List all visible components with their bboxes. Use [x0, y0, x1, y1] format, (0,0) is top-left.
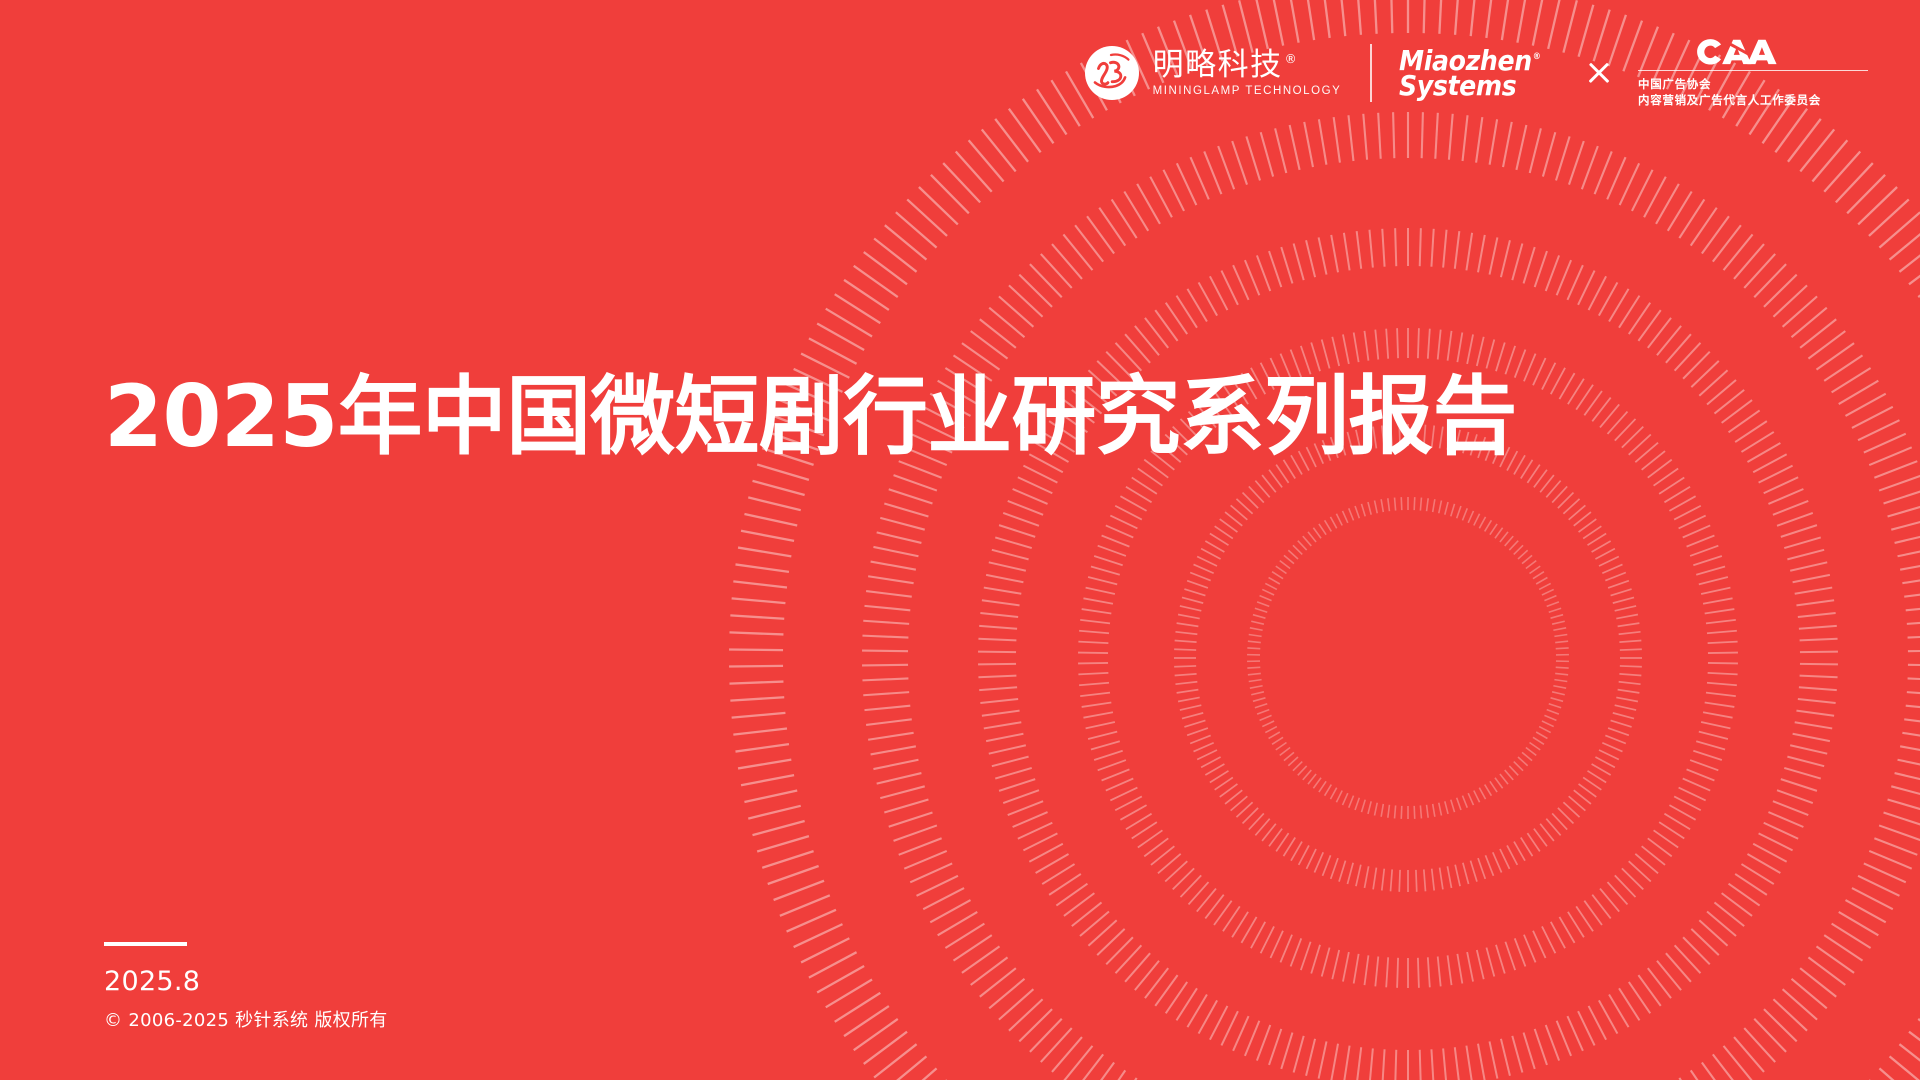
mininglamp-name-cn: 明略科技® — [1153, 50, 1342, 81]
miaozhen-logo: Miaozhen® Systems — [1399, 48, 1540, 100]
radial-tick-rings-decoration — [0, 0, 1920, 1080]
mininglamp-name-en: MININGLAMP TECHNOLOGY — [1153, 86, 1342, 98]
miaozhen-line1-text: Miaozhen — [1399, 44, 1532, 77]
tick-ring-1 — [1174, 424, 1642, 892]
logo-divider — [1370, 44, 1372, 102]
mininglamp-globe-icon — [1084, 45, 1140, 101]
caa-rule — [1638, 70, 1868, 71]
page-title: 2025年中国微短剧行业研究系列报告 — [104, 372, 1517, 462]
caa-line1: 中国广告协会 — [1638, 76, 1868, 92]
mininglamp-name-cn-text: 明略科技 — [1153, 47, 1283, 83]
mininglamp-wordmark: 明略科技® MININGLAMP TECHNOLOGY — [1153, 50, 1342, 98]
tick-ring-3 — [978, 228, 1838, 1080]
miaozhen-registered-mark: ® — [1533, 52, 1541, 62]
copyright-notice: © 2006-2025 秒针系统 版权所有 — [104, 1010, 388, 1032]
tick-ring-5 — [729, 0, 1920, 1080]
footer-block: 2025.8 © 2006-2025 秒针系统 版权所有 — [104, 942, 388, 1032]
title-block: 2025年中国微短剧行业研究系列报告 — [104, 372, 1538, 462]
miaozhen-line2: Systems — [1399, 73, 1540, 99]
publication-date: 2025.8 — [104, 967, 388, 997]
miaozhen-line1: Miaozhen® — [1399, 48, 1540, 74]
report-cover-slide: 明略科技® MININGLAMP TECHNOLOGY Miaozhen® Sy… — [0, 0, 1920, 1080]
partner-logo-bar: 明略科技® MININGLAMP TECHNOLOGY Miaozhen® Sy… — [1084, 38, 1868, 109]
mininglamp-logo: 明略科技® MININGLAMP TECHNOLOGY — [1084, 45, 1342, 101]
tick-ring-0 — [1247, 497, 1569, 819]
mininglamp-registered-mark: ® — [1285, 52, 1297, 66]
caa-logo-icon — [1638, 38, 1868, 65]
footer-rule — [104, 942, 187, 946]
caa-line2: 内容营销及广告代言人工作委员会 — [1638, 92, 1868, 108]
tick-ring-4 — [862, 112, 1920, 1080]
cross-icon — [1586, 60, 1612, 86]
caa-logo: 中国广告协会 内容营销及广告代言人工作委员会 — [1638, 38, 1868, 109]
